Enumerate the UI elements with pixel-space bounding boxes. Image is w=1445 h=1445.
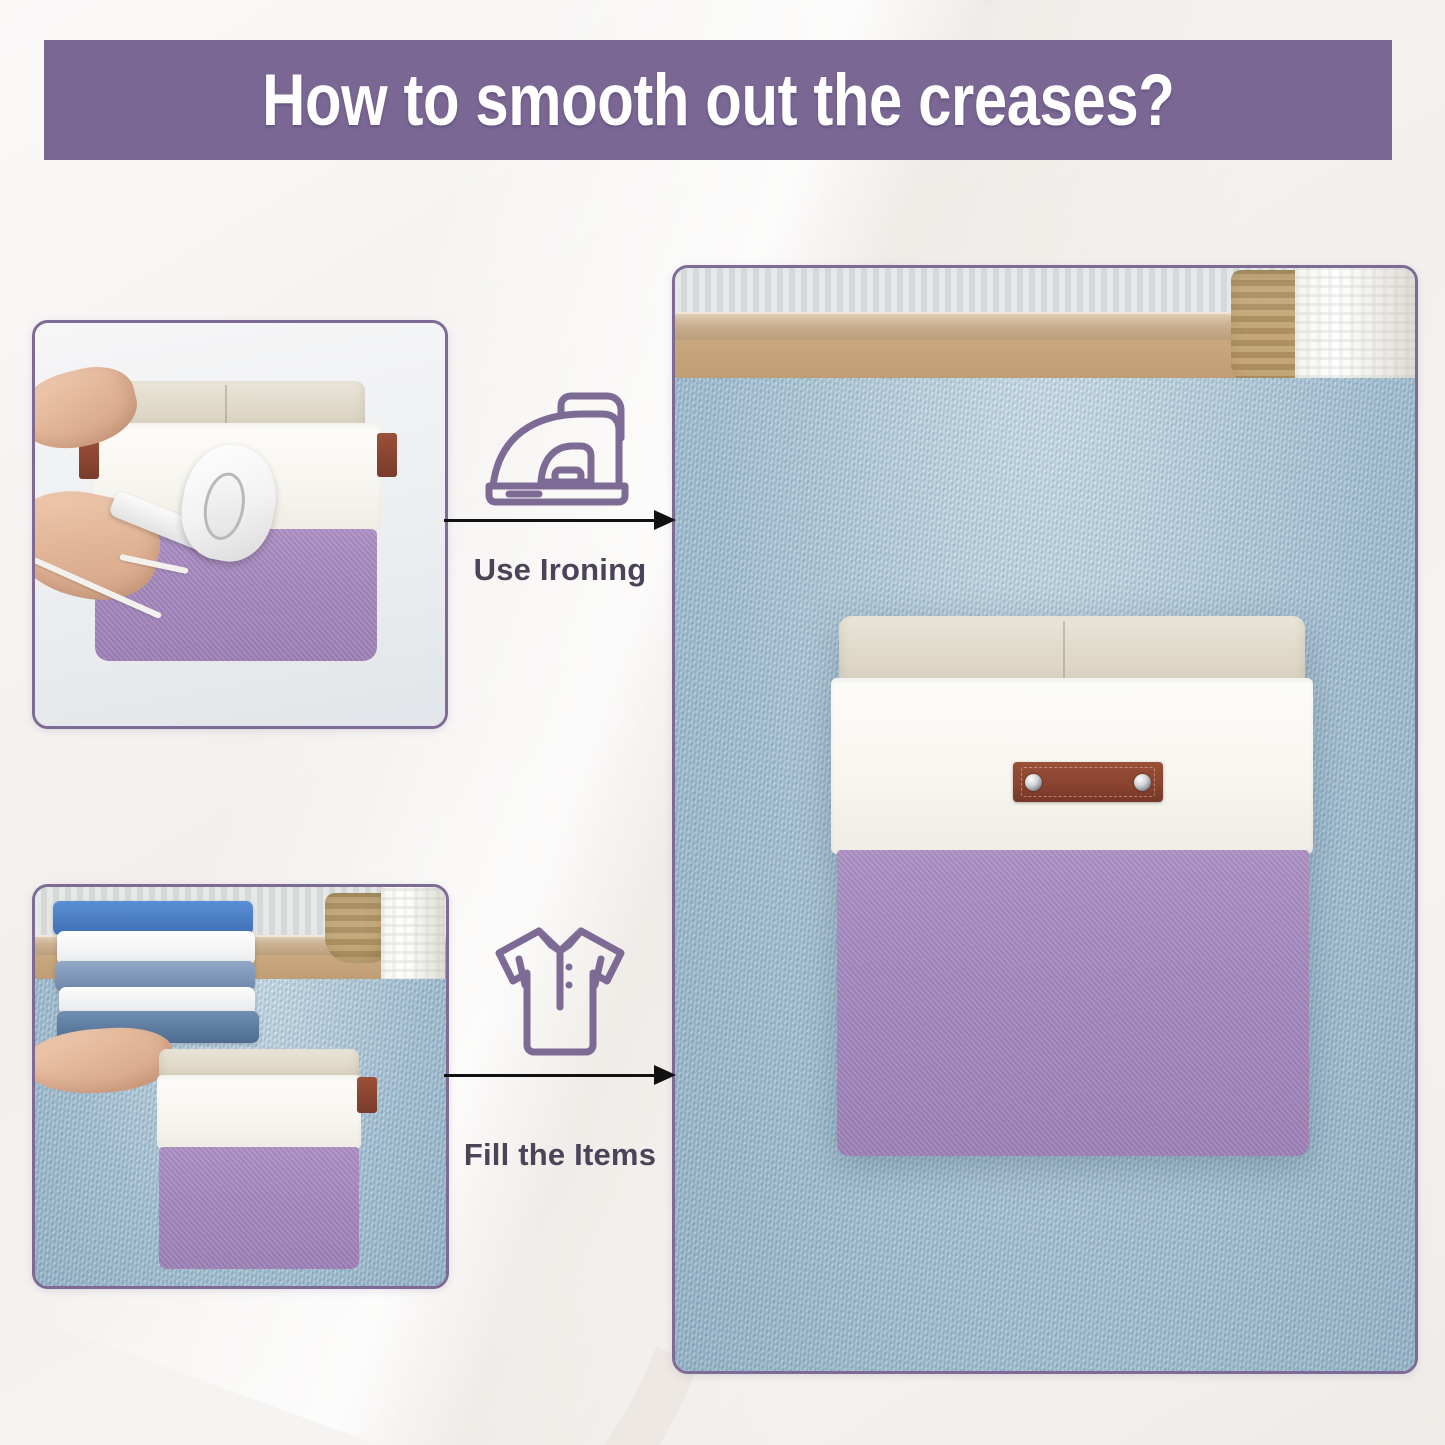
step-label-ironing: Use Ironing — [474, 552, 647, 588]
step-label-fill: Fill the Items — [464, 1137, 656, 1173]
storage-basket — [153, 1049, 367, 1269]
photo-basket-on-rug — [672, 265, 1418, 1374]
arrow-right-icon — [444, 1067, 676, 1083]
arrow-right-icon — [444, 512, 676, 528]
tshirt-icon — [475, 915, 645, 1065]
header-banner: How to smooth out the creases? — [44, 40, 1392, 160]
page-title: How to smooth out the creases? — [262, 64, 1174, 137]
iron-icon — [475, 390, 645, 510]
basket-white-panel — [157, 1075, 361, 1149]
folded-item — [53, 901, 253, 935]
basket-white-panel — [831, 678, 1313, 854]
photo-folded-laundry — [32, 884, 449, 1289]
fabric-twill-texture — [837, 850, 1309, 1156]
photo-steaming-basket-canvas — [35, 323, 445, 726]
basket-side-tab — [377, 433, 397, 477]
basket-purple-panel — [159, 1147, 359, 1269]
basket-purple-panel — [837, 850, 1309, 1156]
basket-side-tab — [357, 1077, 377, 1113]
steamer-plate — [199, 469, 250, 543]
photo-steaming-basket — [32, 320, 448, 729]
infographic-stage: How to smooth out the creases? — [0, 0, 1445, 1445]
handle-grommet — [1134, 774, 1151, 791]
handle-grommet — [1025, 774, 1042, 791]
step-fill: Fill the Items — [472, 915, 648, 1173]
leather-handle — [1013, 762, 1163, 802]
folded-item — [57, 931, 255, 965]
fabric-twill-texture — [159, 1147, 359, 1269]
step-ironing: Use Ironing — [472, 390, 648, 588]
storage-basket — [823, 616, 1323, 1156]
photo-basket-on-rug-canvas — [675, 268, 1415, 1371]
photo-folded-laundry-canvas — [35, 887, 446, 1286]
